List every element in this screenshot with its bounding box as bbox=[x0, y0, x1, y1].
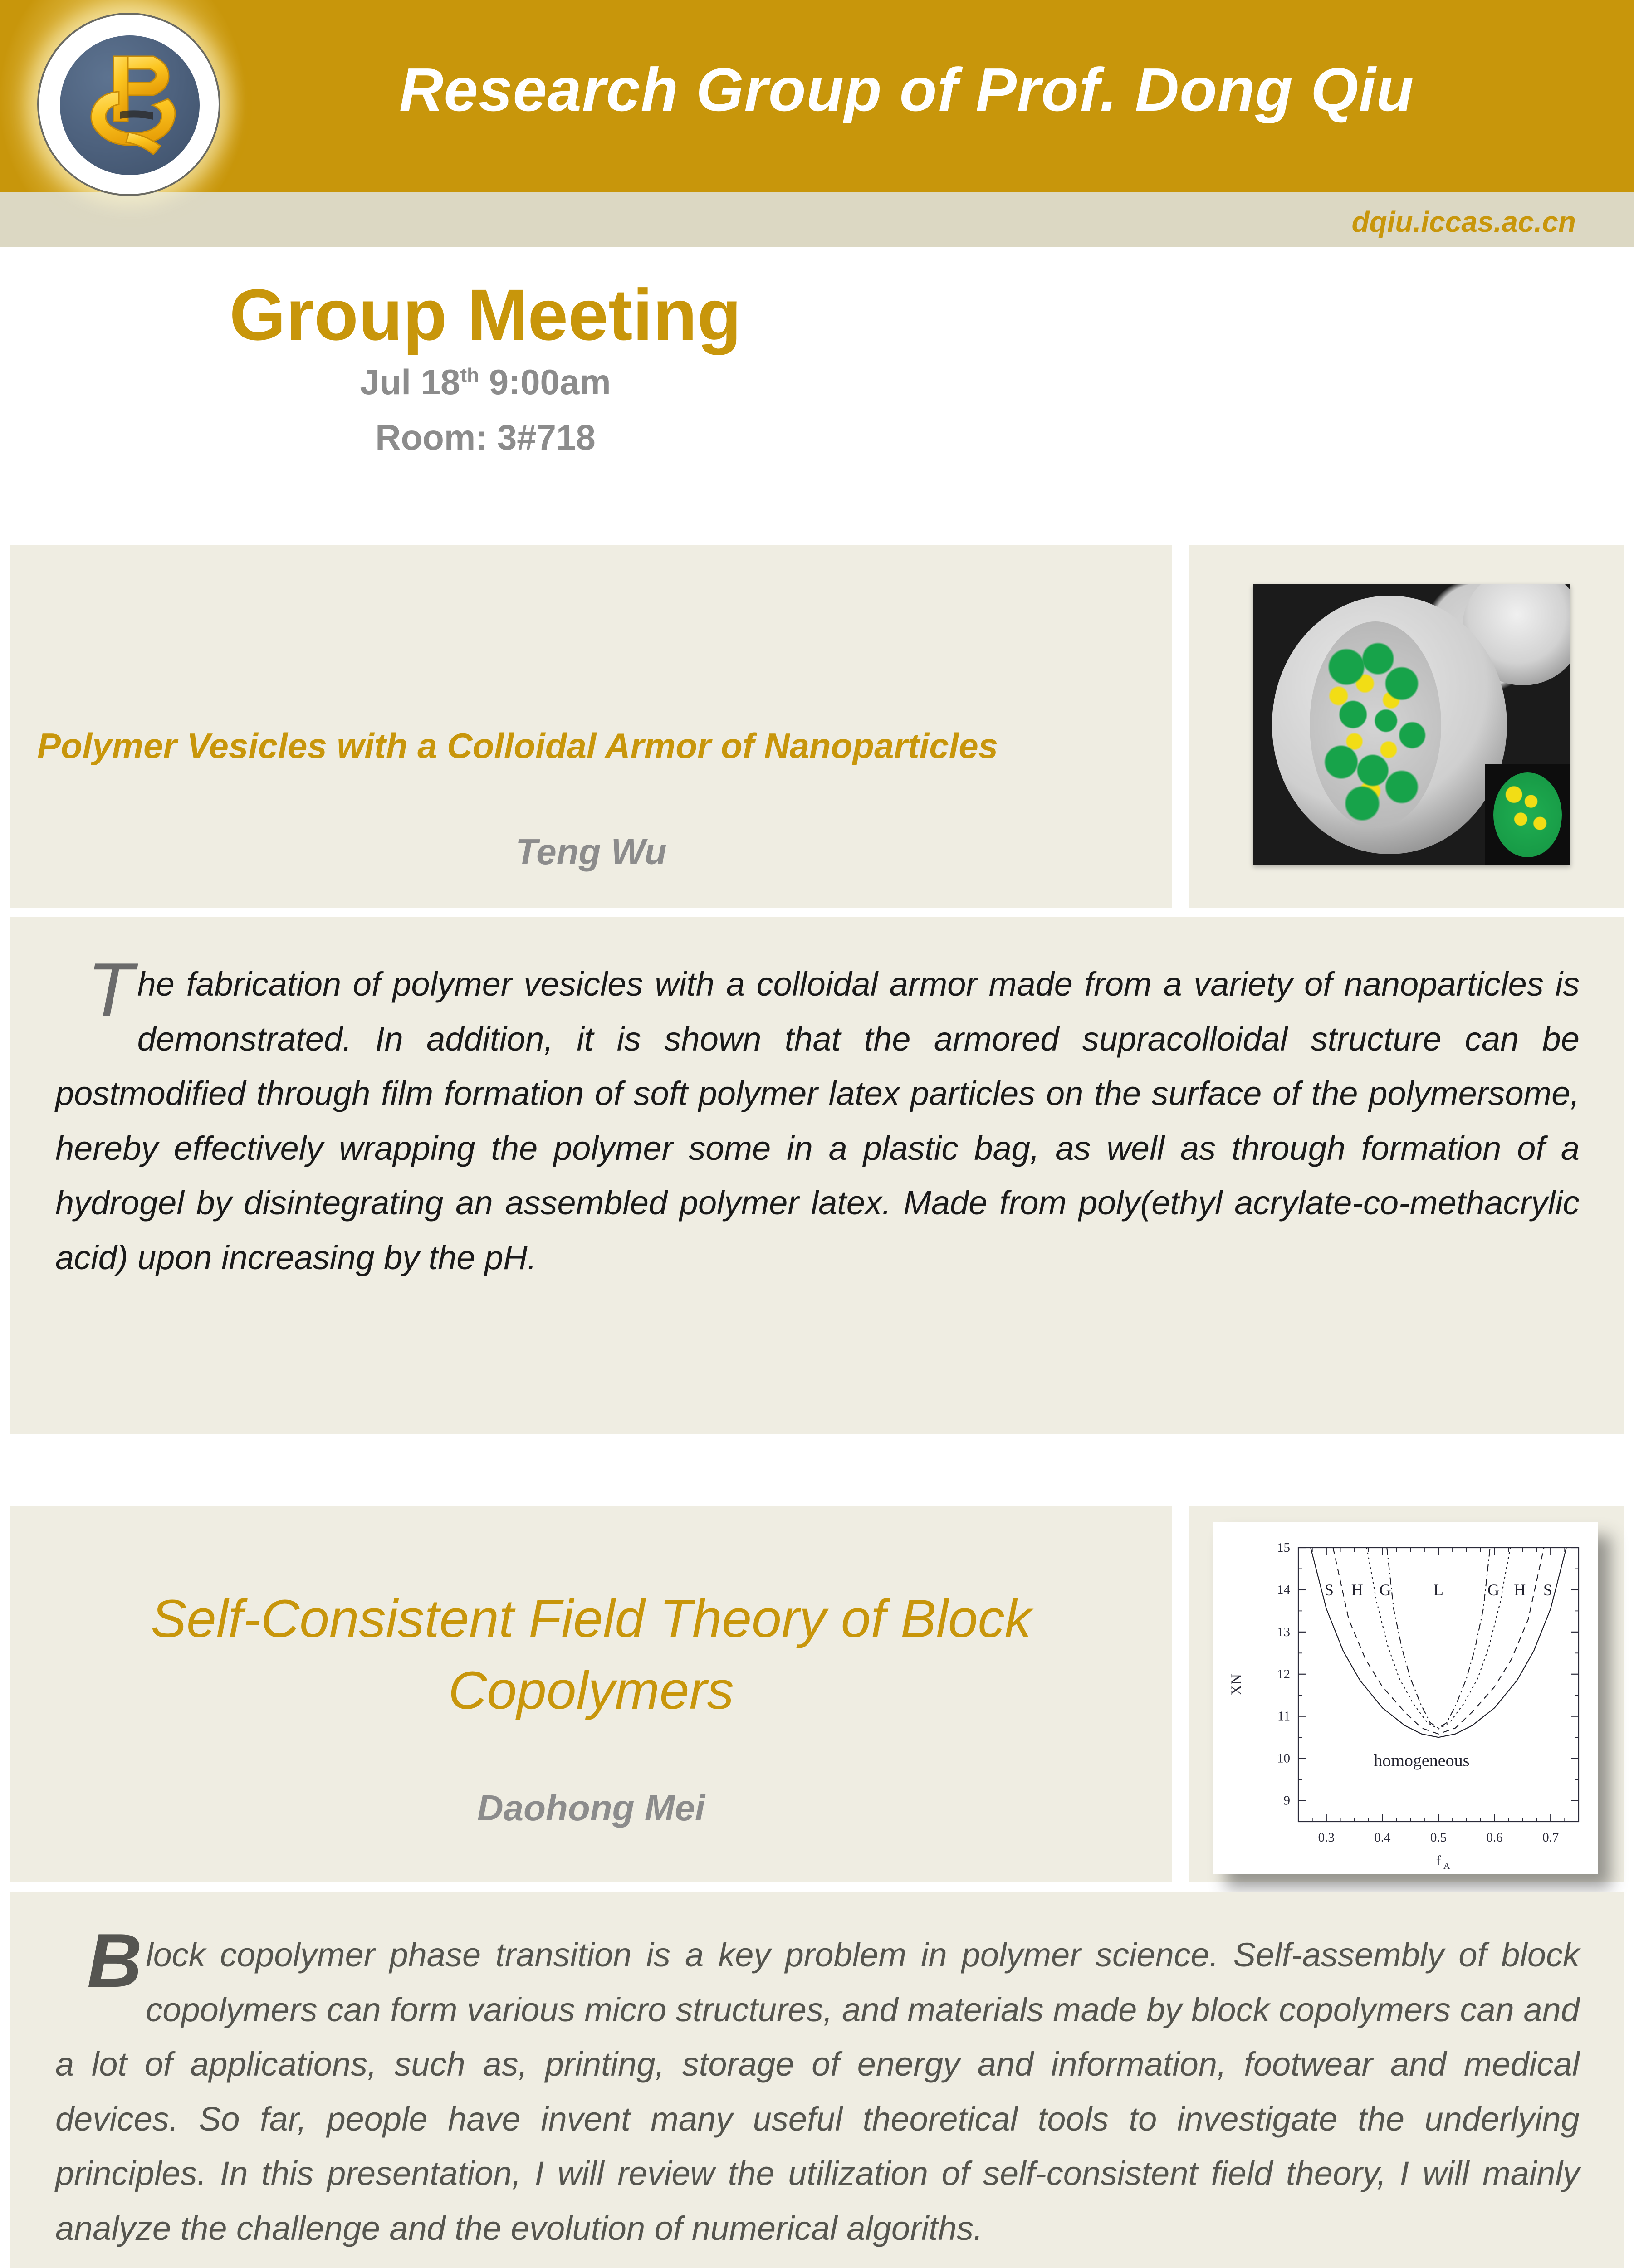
svg-text:H: H bbox=[1514, 1581, 1526, 1599]
talk-2-title-panel: Self-Consistent Field Theory of Block Co… bbox=[10, 1506, 1172, 1882]
svg-text:S: S bbox=[1325, 1581, 1334, 1599]
svg-text:XN: XN bbox=[1228, 1674, 1245, 1696]
talk-1-dropcap: T bbox=[87, 959, 137, 1022]
svg-text:9: 9 bbox=[1284, 1794, 1291, 1808]
svg-text:15: 15 bbox=[1277, 1540, 1290, 1555]
svg-text:0.5: 0.5 bbox=[1430, 1830, 1447, 1845]
group-website-url[interactable]: dqiu.iccas.ac.cn bbox=[1352, 205, 1576, 239]
meeting-date: Jul 18 bbox=[360, 362, 460, 402]
svg-text:0.7: 0.7 bbox=[1542, 1830, 1559, 1845]
svg-text:homogeneous: homogeneous bbox=[1374, 1751, 1469, 1770]
talk-2-abstract-panel: Block copolymer phase transition is a ke… bbox=[10, 1892, 1624, 2268]
meeting-datetime: Jul 18th 9:00am bbox=[0, 361, 971, 404]
sem-inset-vesicle bbox=[1493, 772, 1562, 857]
talk-1-abstract-panel: The fabrication of polymer vesicles with… bbox=[10, 917, 1624, 1434]
svg-text:0.6: 0.6 bbox=[1486, 1830, 1502, 1845]
svg-text:f: f bbox=[1436, 1853, 1441, 1868]
page-title: Research Group of Prof. Dong Qiu bbox=[399, 59, 1397, 120]
block-copolymer-phase-diagram: 91011121314150.30.40.50.60.7fAXNSHGLGHSh… bbox=[1213, 1522, 1598, 1874]
talk-1-figure-panel bbox=[1189, 545, 1624, 908]
logo-monogram-icon bbox=[60, 35, 200, 175]
svg-text:14: 14 bbox=[1277, 1583, 1291, 1597]
talk-2-figure-panel: 91011121314150.30.40.50.60.7fAXNSHGLGHSh… bbox=[1189, 1506, 1624, 1882]
meeting-title: Group Meeting bbox=[0, 277, 971, 353]
sem-nanoparticle-vesicle-image bbox=[1253, 584, 1570, 865]
sem-inset-panel bbox=[1485, 764, 1570, 865]
talk-1-abstract-text: he fabrication of polymer vesicles with … bbox=[55, 965, 1580, 1276]
svg-text:13: 13 bbox=[1277, 1625, 1290, 1639]
talk-1-title: Polymer Vesicles with a Colloidal Armor … bbox=[37, 722, 1145, 770]
meeting-header: Group Meeting Jul 18th 9:00am Room: 3#71… bbox=[0, 277, 971, 459]
phase-diagram-svg: 91011121314150.30.40.50.60.7fAXNSHGLGHSh… bbox=[1213, 1522, 1598, 1874]
svg-text:10: 10 bbox=[1277, 1751, 1290, 1766]
svg-text:G: G bbox=[1487, 1581, 1499, 1599]
logo-disc bbox=[60, 35, 200, 175]
iccas-logo bbox=[37, 13, 220, 196]
svg-text:0.4: 0.4 bbox=[1374, 1830, 1391, 1845]
svg-text:H: H bbox=[1351, 1581, 1363, 1599]
sem-vesicle-core bbox=[1310, 621, 1441, 828]
talk-1-abstract: The fabrication of polymer vesicles with… bbox=[55, 957, 1580, 1286]
talk-2-abstract-text: lock copolymer phase transition is a key… bbox=[55, 1936, 1580, 2247]
talk-2-author: Daohong Mei bbox=[37, 1787, 1145, 1829]
talk-1-author: Teng Wu bbox=[37, 831, 1145, 873]
svg-text:A: A bbox=[1443, 1861, 1450, 1871]
talk-1-title-panel: Polymer Vesicles with a Colloidal Armor … bbox=[10, 545, 1172, 908]
svg-text:12: 12 bbox=[1277, 1667, 1290, 1681]
talk-2-abstract: Block copolymer phase transition is a ke… bbox=[55, 1928, 1580, 2256]
meeting-room: Room: 3#718 bbox=[0, 416, 971, 459]
talk-2-dropcap: B bbox=[87, 1930, 146, 1992]
svg-text:S: S bbox=[1543, 1581, 1552, 1599]
meeting-date-ordinal: th bbox=[460, 364, 479, 386]
talk-2-title: Self-Consistent Field Theory of Block Co… bbox=[37, 1583, 1145, 1726]
svg-text:0.3: 0.3 bbox=[1318, 1830, 1335, 1845]
svg-text:G: G bbox=[1380, 1581, 1391, 1599]
sem-vesicle-shell bbox=[1272, 596, 1507, 854]
meeting-time: 9:00am bbox=[479, 362, 611, 402]
svg-text:11: 11 bbox=[1277, 1709, 1290, 1724]
svg-text:L: L bbox=[1433, 1581, 1443, 1599]
